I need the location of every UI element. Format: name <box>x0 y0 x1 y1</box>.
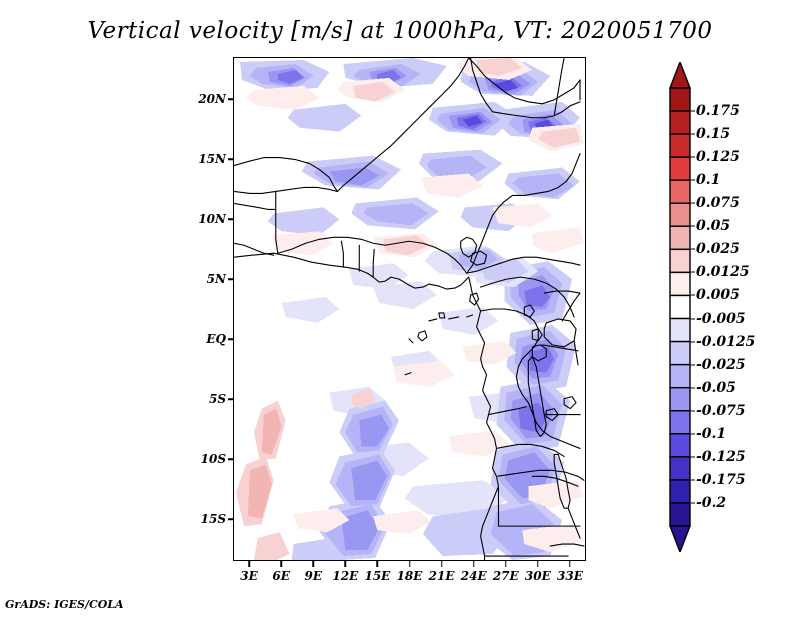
colorbar-tick-label: 0.1 <box>696 172 720 188</box>
y-tick-label: 10S <box>201 452 226 466</box>
colorbar-tick-label: -0.2 <box>696 495 726 511</box>
colorbar-tick-mark <box>691 272 695 273</box>
colorbar-max-arrow <box>670 62 690 88</box>
colorbar-segment[interactable] <box>670 226 690 249</box>
grads-credit: GrADS: IGES/COLA <box>5 598 124 611</box>
colorbar-segment[interactable] <box>670 342 690 365</box>
colorbar-tick-mark <box>691 410 695 411</box>
colorbar-segment[interactable] <box>670 411 690 434</box>
y-tick-mark <box>228 458 234 460</box>
colorbar-segment[interactable] <box>670 180 690 203</box>
colorbar-tick-label: -0.025 <box>696 357 746 373</box>
colorbar-segment[interactable] <box>670 157 690 180</box>
x-tick-mark <box>280 561 282 567</box>
colorbar-tick-mark <box>691 180 695 181</box>
x-tick-label: 18E <box>397 569 423 583</box>
colorbar-tick-label: -0.175 <box>696 472 746 488</box>
colorbar-tick-mark <box>691 203 695 204</box>
colorbar-segment[interactable] <box>670 388 690 411</box>
colorbar-tick-mark <box>691 479 695 480</box>
y-tick-mark <box>228 98 234 100</box>
colorbar-tick-label: 0.075 <box>696 195 740 211</box>
colorbar-tick-mark <box>691 364 695 365</box>
y-tick-label: 10N <box>198 212 226 226</box>
x-tick-mark <box>473 561 475 567</box>
colorbar-tick-label: -0.0125 <box>696 334 755 350</box>
x-tick-mark <box>248 561 250 567</box>
map-plot-area[interactable] <box>233 57 586 561</box>
colorbar-segment[interactable] <box>670 365 690 388</box>
colorbar-segment[interactable] <box>670 272 690 295</box>
y-tick-mark <box>228 338 234 340</box>
x-tick-label: 3E <box>240 569 258 583</box>
colorbar-tick-label: 0.175 <box>696 103 740 119</box>
colorbar-segment[interactable] <box>670 457 690 480</box>
x-tick-label: 12E <box>332 569 358 583</box>
colorbar-segment[interactable] <box>670 480 690 503</box>
x-tick-mark <box>441 561 443 567</box>
colorbar-tick-mark <box>691 387 695 388</box>
colorbar-tick-label: 0.05 <box>696 218 730 234</box>
colorbar-segment[interactable] <box>670 134 690 157</box>
colorbar-tick-label: 0.125 <box>696 149 740 165</box>
y-tick-mark <box>228 278 234 280</box>
colorbar-tick-label: -0.125 <box>696 449 746 465</box>
x-tick-label: 15E <box>364 569 390 583</box>
velocity-field <box>236 58 584 560</box>
colorbar-tick-label: 0.0125 <box>696 264 750 280</box>
y-tick-label: 5N <box>207 272 226 286</box>
y-tick-mark <box>228 158 234 160</box>
x-tick-mark <box>409 561 411 567</box>
y-tick-label: 15N <box>198 152 226 166</box>
colorbar[interactable] <box>669 62 691 552</box>
x-tick-mark <box>312 561 314 567</box>
colorbar-tick-mark <box>691 341 695 342</box>
colorbar-segment[interactable] <box>670 88 690 111</box>
colorbar-segment[interactable] <box>670 503 690 526</box>
colorbar-segment[interactable] <box>670 203 690 226</box>
x-tick-label: 30E <box>525 569 551 583</box>
y-tick-mark <box>228 218 234 220</box>
colorbar-tick-mark <box>691 456 695 457</box>
y-tick-mark <box>228 398 234 400</box>
x-tick-label: 6E <box>272 569 290 583</box>
x-tick-mark <box>569 561 571 567</box>
y-axis-labels: 20N15N10N5NEQ5S10S15S <box>170 57 226 561</box>
colorbar-tick-mark <box>691 295 695 296</box>
colorbar-tick-mark <box>691 318 695 319</box>
colorbar-segment[interactable] <box>670 295 690 318</box>
colorbar-tick-label: -0.005 <box>696 311 746 327</box>
y-tick-label: 15S <box>201 512 226 526</box>
colorbar-tick-label: -0.075 <box>696 403 746 419</box>
colorbar-labels: 0.1750.150.1250.10.0750.050.0250.01250.0… <box>696 62 796 552</box>
colorbar-tick-mark <box>691 134 695 135</box>
x-tick-mark <box>537 561 539 567</box>
x-tick-mark <box>377 561 379 567</box>
x-tick-label: 21E <box>429 569 455 583</box>
colorbar-tick-label: 0.15 <box>696 126 730 142</box>
colorbar-tick-mark <box>691 157 695 158</box>
x-tick-label: 24E <box>461 569 487 583</box>
page-title: Vertical velocity [m/s] at 1000hPa, VT: … <box>0 18 800 44</box>
colorbar-min-arrow <box>670 526 690 552</box>
x-tick-label: 33E <box>557 569 583 583</box>
y-tick-label: 20N <box>198 92 226 106</box>
colorbar-tick-label: 0.025 <box>696 241 740 257</box>
x-tick-mark <box>505 561 507 567</box>
colorbar-segment[interactable] <box>670 434 690 457</box>
colorbar-tick-mark <box>691 111 695 112</box>
colorbar-tick-label: -0.05 <box>696 380 736 396</box>
colorbar-segment[interactable] <box>670 319 690 342</box>
colorbar-tick-mark <box>691 502 695 503</box>
colorbar-tick-label: 0.005 <box>696 287 740 303</box>
colorbar-tick-mark <box>691 249 695 250</box>
colorbar-segment[interactable] <box>670 249 690 272</box>
y-tick-mark <box>228 518 234 520</box>
colorbar-tick-mark <box>691 433 695 434</box>
x-tick-label: 27E <box>493 569 519 583</box>
colorbar-tick-label: -0.1 <box>696 426 726 442</box>
y-tick-label: EQ <box>206 332 226 346</box>
colorbar-tick-mark <box>691 226 695 227</box>
x-tick-mark <box>345 561 347 567</box>
map-canvas <box>234 58 585 560</box>
y-tick-label: 5S <box>209 392 226 406</box>
colorbar-swatches <box>669 62 691 552</box>
colorbar-segment[interactable] <box>670 111 690 134</box>
x-tick-label: 9E <box>304 569 322 583</box>
